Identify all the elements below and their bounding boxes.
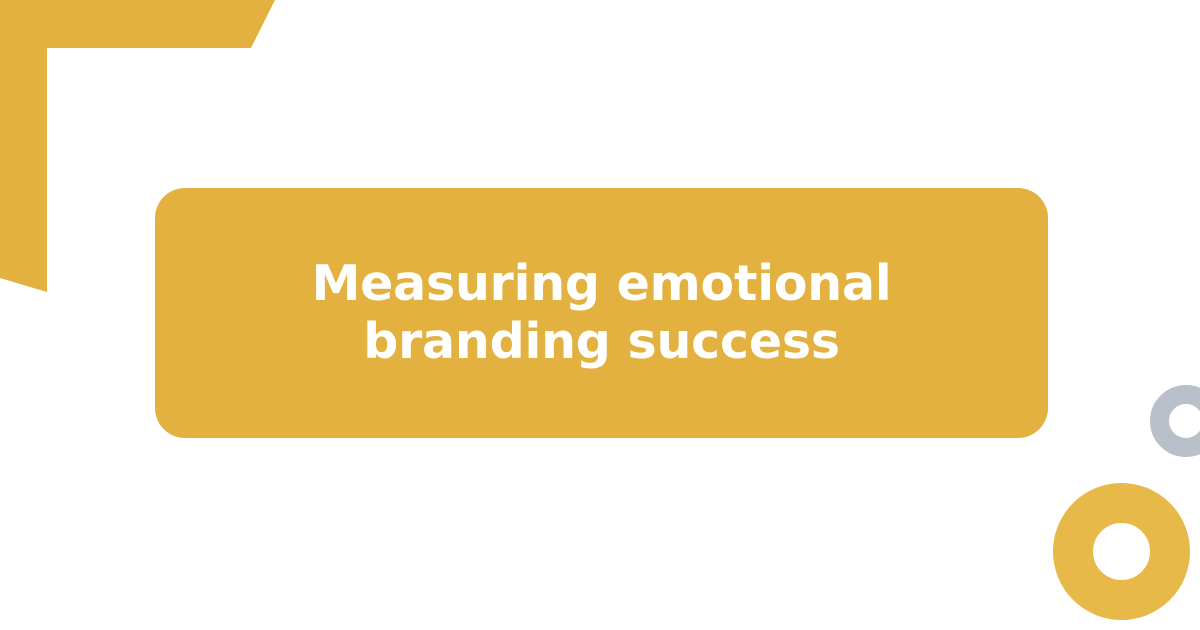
banner-canvas: Measuring emotional branding success xyxy=(0,0,1200,630)
title-card: Measuring emotional branding success xyxy=(155,188,1048,438)
gray-ring-icon xyxy=(1150,385,1200,457)
page-title: Measuring emotional branding success xyxy=(222,255,982,371)
gold-ring-icon xyxy=(1053,483,1190,620)
